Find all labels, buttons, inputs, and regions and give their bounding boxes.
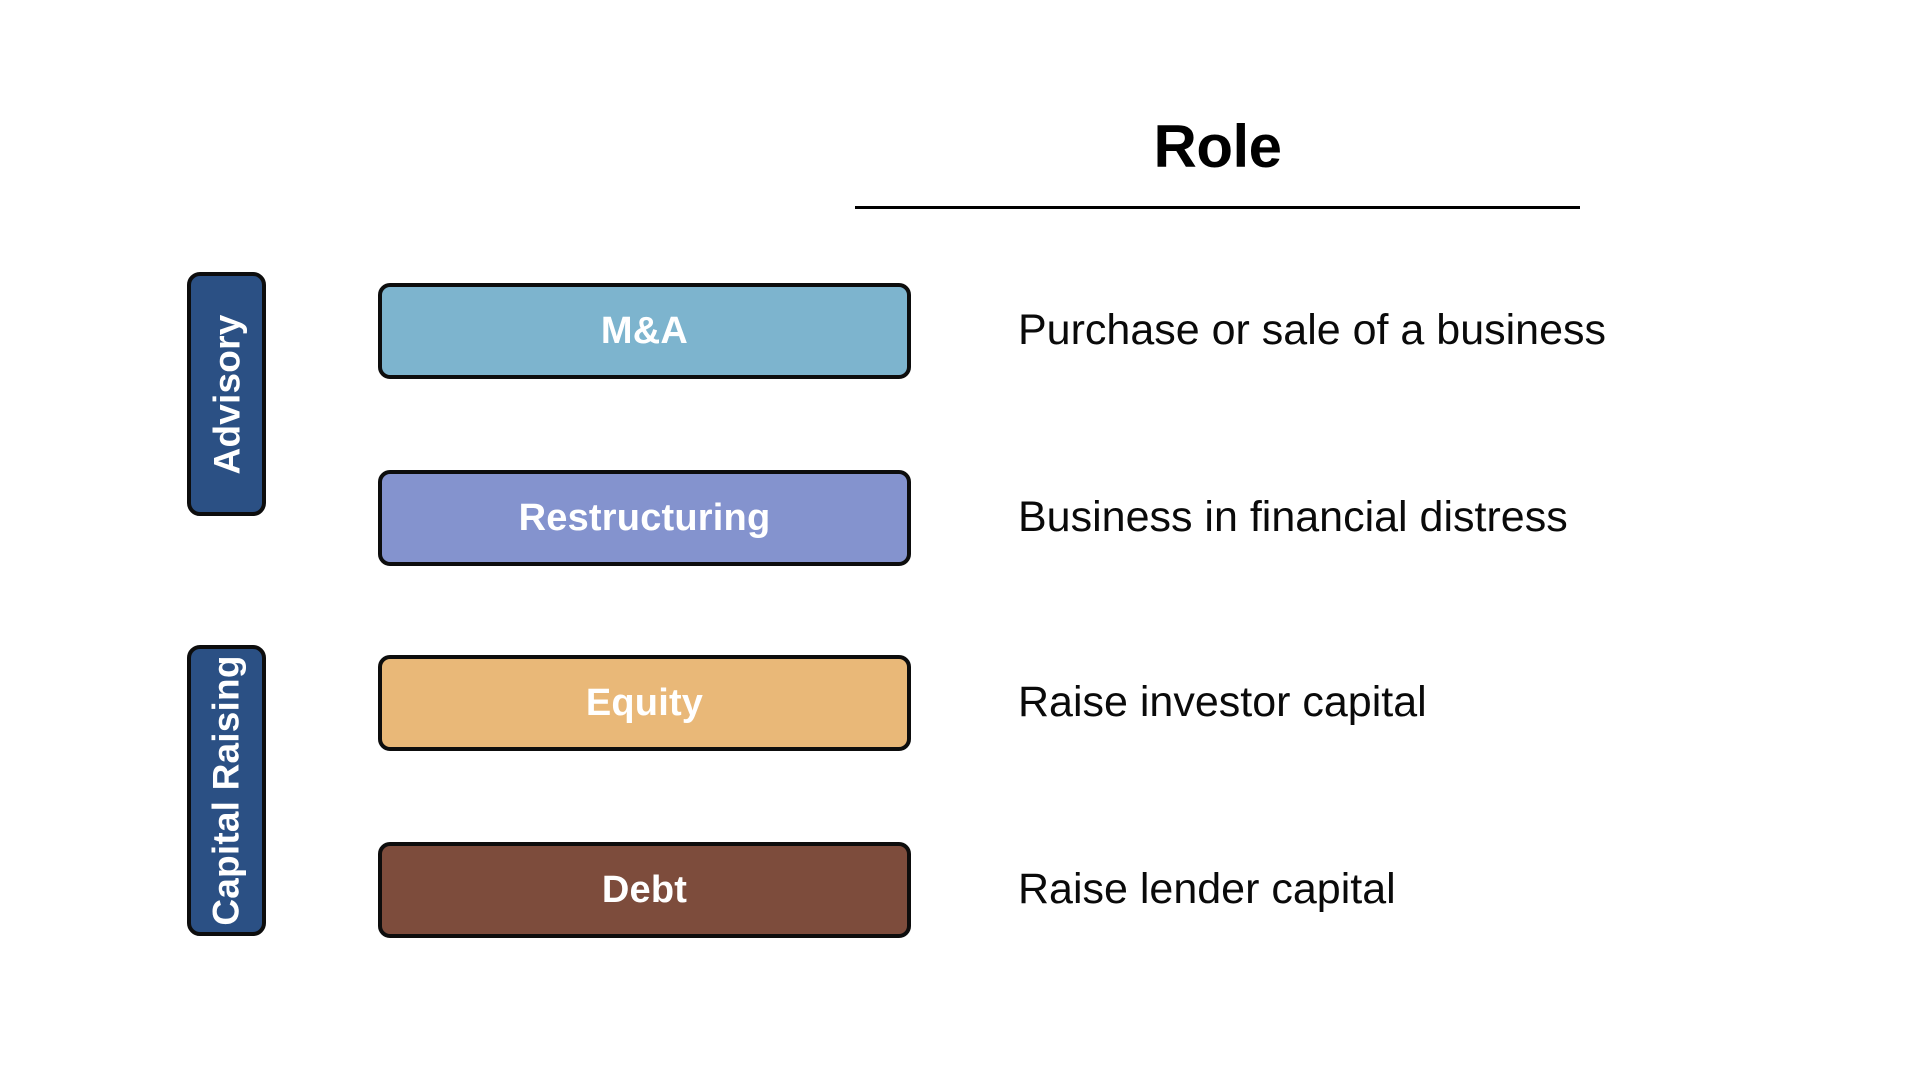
service-box-restructuring: Restructuring bbox=[378, 470, 911, 566]
group-bar-advisory-label: Advisory bbox=[208, 314, 245, 474]
service-box-equity: Equity bbox=[378, 655, 911, 751]
group-bar-capital-raising: Capital Raising bbox=[187, 645, 266, 936]
service-box-debt: Debt bbox=[378, 842, 911, 938]
slide-canvas: Role Advisory Capital Raising M&A Purcha… bbox=[0, 0, 1920, 1080]
role-header-divider bbox=[855, 206, 1580, 209]
role-description-debt: Raise lender capital bbox=[1018, 842, 1718, 938]
service-box-ma: M&A bbox=[378, 283, 911, 379]
role-description-ma: Purchase or sale of a business bbox=[1018, 283, 1718, 379]
group-bar-capital-raising-label: Capital Raising bbox=[208, 655, 245, 925]
service-box-restructuring-label: Restructuring bbox=[519, 499, 771, 537]
service-box-debt-label: Debt bbox=[602, 871, 687, 909]
role-column-header: Role bbox=[855, 117, 1580, 177]
service-box-equity-label: Equity bbox=[586, 684, 703, 722]
role-description-equity: Raise investor capital bbox=[1018, 655, 1718, 751]
role-description-restructuring: Business in financial distress bbox=[1018, 470, 1718, 566]
group-bar-advisory: Advisory bbox=[187, 272, 266, 516]
service-box-ma-label: M&A bbox=[601, 312, 688, 350]
role-column-title: Role bbox=[855, 117, 1580, 177]
